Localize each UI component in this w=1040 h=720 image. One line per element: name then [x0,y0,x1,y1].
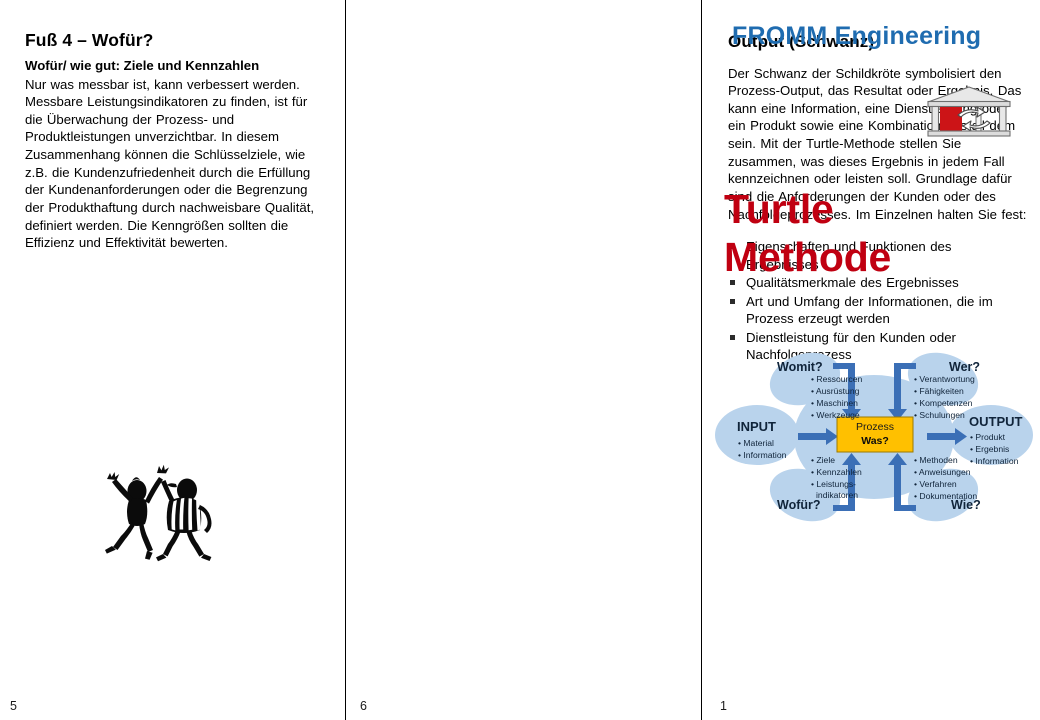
output-item: • Produkt [970,432,1006,442]
womit-item: • Werkzeuge [811,410,860,420]
process-box: Prozess Was? [837,417,913,452]
page-number: 1 [720,699,727,713]
input-item: • Material [738,438,774,448]
cover-title-line-1: Turtle [724,186,891,234]
turtle-method-diagram: Prozess Was? INPUT • Material • Informat… [713,327,1036,547]
wofuer-item: indikatoren [816,490,858,500]
slide-5-subtitle: Wofür/ wie gut: Ziele und Kennzahlen [25,57,320,74]
page-number: 5 [10,699,17,713]
page-title: Fuß 4 – Wofür? [25,30,320,50]
slide-5-content: Fuß 4 – Wofür? Wofür/ wie gut: Ziele und… [25,30,320,252]
output-item: • Information [970,456,1019,466]
process-box-line-1: Prozess [856,421,894,433]
page-number: 6 [360,699,367,713]
output-item: • Ergebnis [970,444,1009,454]
cover-title: Turtle Methode [724,186,891,281]
womit-item: • Maschinen [811,398,858,408]
wer-heading: Wer? [949,360,980,374]
womit-item: • Ressourcen [811,374,862,384]
wer-item: • Schulungen [914,410,965,420]
slide-panel-1: FROMM Engineering Turtle Methode [701,0,1040,720]
wie-item: • Dokumentation [914,491,977,501]
fromm-temple-recycle-logo [924,85,1014,141]
womit-item: • Ausrüstung [811,386,860,396]
wofuer-item: • Leistungs- [811,479,856,489]
input-heading: INPUT [737,419,776,434]
wie-item: • Anweisungen [914,467,971,477]
wofuer-heading: Wofür? [777,498,821,512]
cover-title-line-2: Methode [724,234,891,282]
wer-item: • Kompetenzen [914,398,973,408]
company-name: FROMM Engineering [732,22,981,51]
input-item: • Information [738,450,787,460]
slide-panel-6: Output (Schwanz) Der Schwanz der Schildk… [345,0,701,720]
celebrating-people-illustration [80,443,220,568]
wofuer-item: • Ziele [811,455,835,465]
output-heading: OUTPUT [969,414,1023,429]
wofuer-item: • Kennzahlen [811,467,862,477]
wie-item: • Methoden [914,455,958,465]
process-box-line-2: Was? [861,435,889,447]
womit-heading: Womit? [777,360,823,374]
slide-5-body-text: Nur was messbar ist, kann verbessert wer… [25,76,320,252]
wer-item: • Fähigkeiten [914,386,964,396]
wie-item: • Verfahren [914,479,957,489]
wer-item: • Verantwortung [914,374,975,384]
slide-panel-5: Fuß 4 – Wofür? Wofür/ wie gut: Ziele und… [0,0,345,720]
